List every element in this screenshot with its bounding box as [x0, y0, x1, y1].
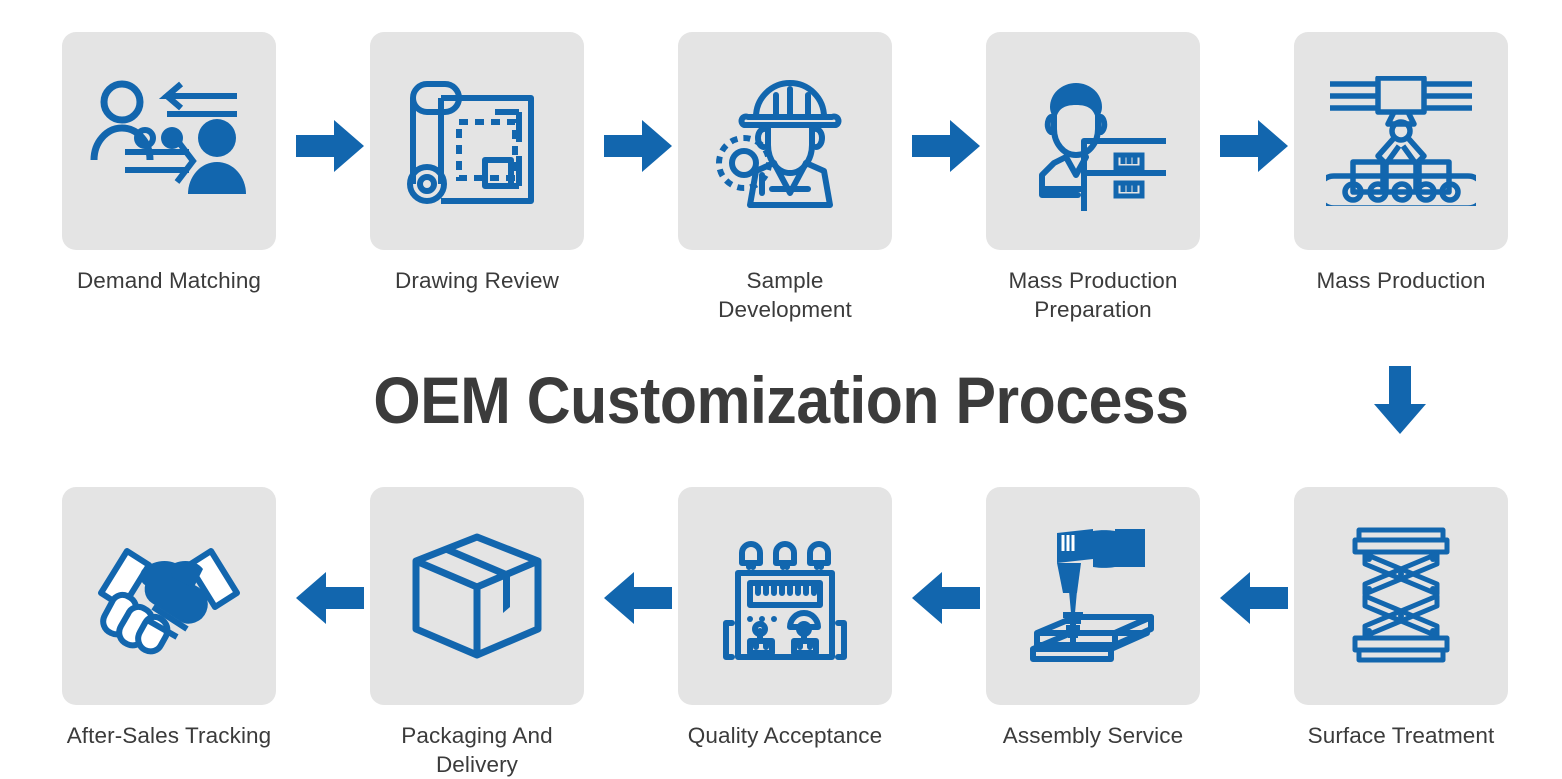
step-tile	[1294, 487, 1508, 705]
arrow-left-4	[1220, 570, 1288, 626]
handshake-icon	[91, 535, 247, 657]
step-tile	[1294, 32, 1508, 250]
arrow-right-2	[604, 118, 672, 174]
arrow-right-1	[296, 118, 364, 174]
step-label: Assembly Service	[1003, 721, 1183, 750]
power-drill-icon	[1019, 523, 1167, 669]
step-label: Mass Production Preparation	[1008, 266, 1177, 324]
sample-development-icon	[712, 71, 858, 211]
step-label: Demand Matching	[77, 266, 261, 295]
arrow-right-3	[912, 118, 980, 174]
step-label: Mass Production	[1316, 266, 1485, 295]
step-mass-production-preparation[interactable]: Mass Production Preparation	[986, 32, 1200, 324]
step-sample-development[interactable]: Sample Development	[678, 32, 892, 324]
package-box-icon	[410, 531, 544, 661]
step-demand-matching[interactable]: Demand Matching	[62, 32, 276, 295]
mass-production-preparation-icon	[1020, 71, 1166, 211]
step-label: After-Sales Tracking	[67, 721, 272, 750]
step-label: Drawing Review	[395, 266, 559, 295]
arrow-left-1	[296, 570, 364, 626]
step-label: Quality Acceptance	[688, 721, 882, 750]
step-drawing-review[interactable]: Drawing Review	[370, 32, 584, 295]
step-tile	[370, 487, 584, 705]
arrow-left-2	[604, 570, 672, 626]
step-after-sales-tracking[interactable]: After-Sales Tracking	[62, 487, 276, 750]
step-tile	[370, 32, 584, 250]
scissor-lift-icon	[1351, 526, 1451, 666]
step-tile	[986, 487, 1200, 705]
step-assembly-service[interactable]: Assembly Service	[986, 487, 1200, 750]
page-title-text: OEM Customization Process	[373, 360, 1188, 440]
step-tile	[986, 32, 1200, 250]
step-surface-treatment[interactable]: Surface Treatment	[1294, 487, 1508, 750]
step-label: Packaging And Delivery	[370, 721, 584, 779]
quality-inspection-icon	[720, 531, 850, 661]
step-label: Sample Development	[678, 266, 892, 324]
step-tile	[678, 487, 892, 705]
page-title: OEM Customization Process	[62, 360, 1499, 440]
drawing-review-icon	[407, 72, 547, 210]
step-quality-acceptance[interactable]: Quality Acceptance	[678, 487, 892, 750]
process-diagram: Demand Matching	[0, 0, 1562, 777]
mass-production-icon	[1326, 76, 1476, 206]
step-tile	[62, 487, 276, 705]
demand-matching-icon	[89, 76, 249, 206]
step-mass-production[interactable]: Mass Production	[1294, 32, 1508, 295]
step-tile	[678, 32, 892, 250]
arrow-left-3	[912, 570, 980, 626]
step-label: Surface Treatment	[1308, 721, 1495, 750]
step-packaging-and-delivery[interactable]: Packaging And Delivery	[370, 487, 584, 779]
arrow-right-4	[1220, 118, 1288, 174]
step-tile	[62, 32, 276, 250]
